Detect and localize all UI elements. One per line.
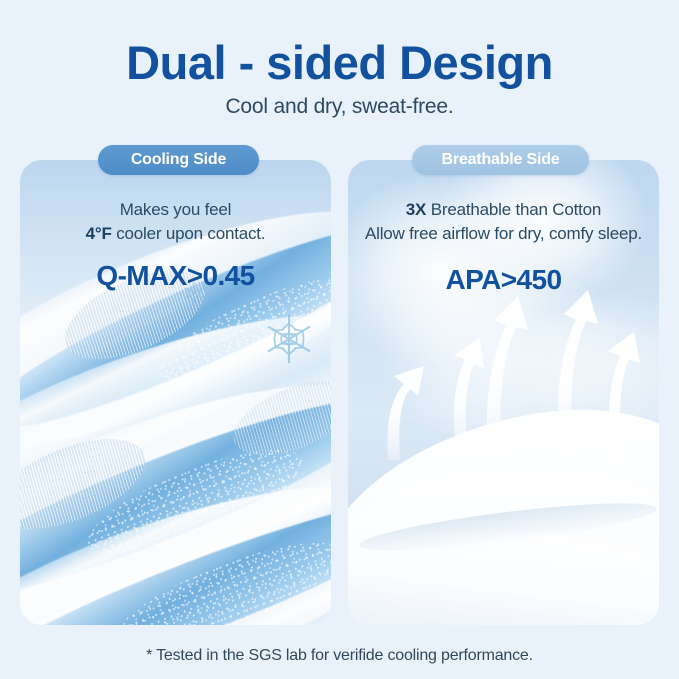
badge-cooling-label: Cooling Side [131, 151, 226, 169]
cooling-temp-value: 4°F [86, 224, 112, 243]
footer: * Tested in the SGS lab for verifide coo… [0, 632, 679, 679]
up-arrow-icon [454, 338, 484, 450]
page-title: Dual - sided Design [0, 38, 679, 87]
breathable-metric: APA>450 [348, 264, 659, 296]
header: Dual - sided Design Cool and dry, sweat-… [0, 0, 679, 132]
up-arrow-icon [388, 366, 424, 460]
breathable-multiplier: 3X [406, 200, 426, 219]
breathable-line-1: 3X Breathable than Cotton [348, 198, 659, 222]
up-arrow-icon [608, 332, 640, 458]
cooling-line-2-rest: cooler upon contact. [112, 224, 266, 243]
snowflake-icon [263, 313, 315, 365]
up-arrow-icon [558, 290, 598, 452]
up-arrow-icon [487, 296, 528, 452]
breathable-text-block: 3X Breathable than Cotton Allow free air… [348, 198, 659, 296]
badge-breathable-label: Breathable Side [442, 151, 560, 169]
cooling-text-block: Makes you feel 4°F cooler upon contact. … [20, 198, 331, 292]
footer-note: * Tested in the SGS lab for verifide coo… [146, 647, 533, 665]
breathable-line-1-rest: Breathable than Cotton [426, 200, 601, 219]
badge-breathable-side: Breathable Side [412, 145, 589, 175]
breathable-line-2: Allow free airflow for dry, comfy sleep. [348, 222, 659, 246]
page-subtitle: Cool and dry, sweat-free. [0, 95, 679, 119]
badge-cooling-side: Cooling Side [98, 145, 259, 175]
cooling-line-1: Makes you feel [20, 198, 331, 222]
cooling-metric: Q-MAX>0.45 [20, 260, 331, 292]
infographic-page: Dual - sided Design Cool and dry, sweat-… [0, 0, 679, 679]
cooling-line-2: 4°F cooler upon contact. [20, 222, 331, 246]
